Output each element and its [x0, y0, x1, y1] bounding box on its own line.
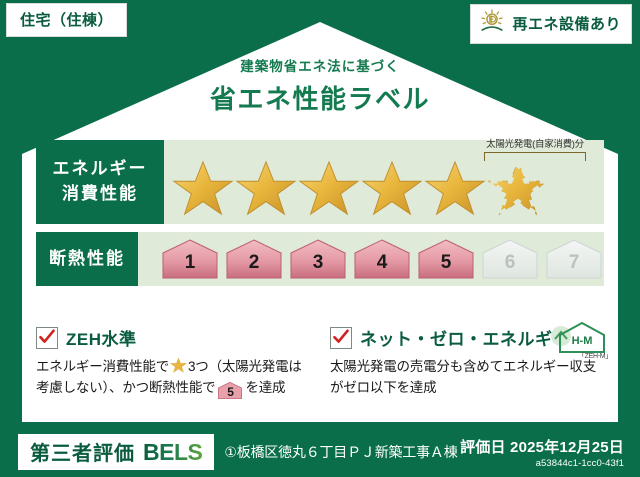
insulation-level-number: 4 — [377, 252, 388, 281]
svg-text:H-M: H-M — [572, 335, 593, 347]
energy-label-line1: エネルギー — [53, 157, 148, 182]
insulation-level-number: 6 — [505, 252, 516, 281]
evaluation-date: 評価日 2025年12月25日 — [460, 436, 624, 457]
energy-performance-value: 太陽光発電(自家消費)分 — [164, 140, 604, 224]
energy-performance-label-card: 住宅（住棟） 再エネ設備あり 建築物省エネ法に基づく — [0, 0, 640, 477]
insulation-level-number: 5 — [441, 252, 452, 281]
performance-table: エネルギー 消費性能 太陽光発電(自家消費)分 — [36, 140, 604, 294]
title-main: 省エネ性能ラベル — [0, 79, 640, 116]
star-icon — [361, 158, 423, 220]
checkbox-checked-icon — [36, 327, 58, 349]
checkbox-checked-icon — [330, 327, 352, 349]
energy-performance-label: エネルギー 消費性能 — [36, 140, 164, 224]
insulation-level-number: 7 — [569, 252, 580, 281]
footer-bar: 第三者評価 BELS ①板橋区徳丸６丁目ＰＪ新築工事Ａ棟 評価日 2025年12… — [0, 427, 640, 477]
insulation-performance-label: 断熱性能 — [36, 232, 138, 286]
insulation-performance-value: 1 2 3 4 — [138, 232, 604, 286]
claim-body: エネルギー消費性能で3つ（太陽光発電は考慮しない）、かつ断熱性能で5を達成 — [36, 357, 312, 400]
insulation-level-number: 2 — [249, 252, 260, 281]
claim-net-zero-energy: ネット・ゼロ・エネルギー H-M 「ZEH-M」 太陽光発電の売電分も含めてエネ… — [330, 325, 606, 400]
building-type-label: 住宅（住棟） — [20, 12, 113, 29]
title-subtitle: 建築物省エネ法に基づく — [0, 55, 640, 75]
insulation-performance-row: 断熱性能 1 2 3 — [36, 232, 604, 286]
star-icon — [424, 158, 486, 220]
energy-performance-row: エネルギー 消費性能 太陽光発電(自家消費)分 — [36, 140, 604, 224]
insulation-level-badge-inline: 5 — [217, 381, 243, 400]
claims-section: ZEH水準 エネルギー消費性能で3つ（太陽光発電は考慮しない）、かつ断熱性能で5… — [36, 325, 606, 400]
claim-body: 太陽光発電の売電分も含めてエネルギー収支がゼロ以下を達成 — [330, 357, 606, 399]
renewable-badge-label: 再エネ設備あり — [512, 13, 621, 34]
title-block: 建築物省エネ法に基づく 省エネ性能ラベル — [0, 55, 640, 116]
claim-title: ネット・ゼロ・エネルギー — [360, 325, 570, 350]
evaluation-id: a53844c1-1cc0-43f1 — [460, 458, 624, 469]
insulation-level-number: 1 — [185, 252, 196, 281]
star-icon — [170, 357, 187, 374]
solar-note-label: 太陽光発電(自家消費)分 — [470, 136, 600, 150]
energy-label-line2: 消費性能 — [62, 182, 138, 207]
claim-zeh-standard: ZEH水準 エネルギー消費性能で3つ（太陽光発電は考慮しない）、かつ断熱性能で5… — [36, 325, 312, 400]
bels-certification-box: 第三者評価 BELS — [18, 434, 214, 470]
zeh-m-logo-caption: 「ZEH-M」 — [578, 351, 612, 361]
star-icon-solar-dashed — [487, 158, 549, 220]
solar-bracket — [484, 152, 586, 161]
star-icon — [172, 158, 234, 220]
insulation-level-badge: 1 — [160, 237, 220, 281]
project-name: ①板橋区徳丸６丁目ＰＪ新築工事Ａ棟 — [224, 442, 457, 462]
star-icon — [298, 158, 360, 220]
solar-sun-icon — [479, 9, 505, 38]
evaluation-info: 評価日 2025年12月25日 a53844c1-1cc0-43f1 — [460, 436, 624, 469]
insulation-level-scale: 1 2 3 4 — [138, 237, 604, 281]
bels-jp-label: 第三者評価 — [30, 437, 135, 466]
insulation-level-number: 5 — [217, 381, 243, 403]
insulation-label-text: 断熱性能 — [49, 247, 125, 272]
insulation-level-number: 3 — [313, 252, 324, 281]
building-type-tab: 住宅（住棟） — [6, 3, 127, 37]
claim-title: ZEH水準 — [66, 325, 137, 350]
bels-logo-text: BELS — [143, 439, 202, 466]
insulation-level-badge: 3 — [288, 237, 348, 281]
insulation-level-badge: 7 — [544, 237, 604, 281]
solar-self-consumption-note: 太陽光発電(自家消費)分 — [470, 136, 600, 161]
insulation-level-badge: 4 — [352, 237, 412, 281]
claim-header: ZEH水準 — [36, 325, 312, 350]
renewable-energy-badge: 再エネ設備あり — [470, 4, 632, 44]
claim-body-part1: エネルギー消費性能で — [36, 359, 169, 374]
star-icon — [235, 158, 297, 220]
insulation-level-badge: 6 — [480, 237, 540, 281]
insulation-level-badge: 2 — [224, 237, 284, 281]
insulation-level-badge: 5 — [416, 237, 476, 281]
claim-body-part3: を達成 — [245, 380, 285, 395]
